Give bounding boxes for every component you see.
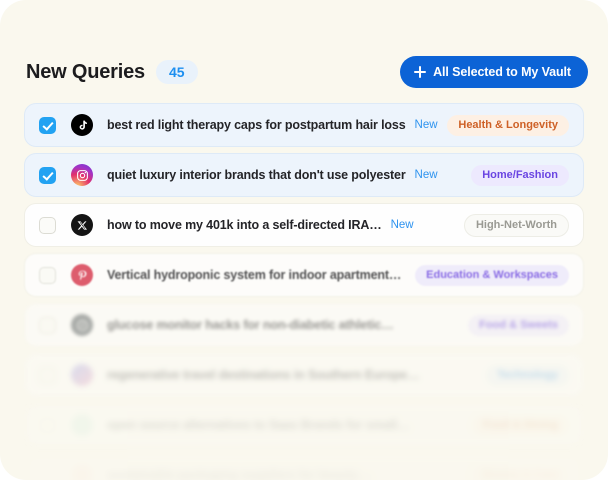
category-tag[interactable]: Home/Fashion xyxy=(471,165,569,186)
new-badge: New xyxy=(391,219,414,231)
category-tag[interactable]: High-Net-Worth xyxy=(464,214,569,237)
query-row[interactable]: sustainable packaging suppliers for beau… xyxy=(24,453,584,480)
row-checkbox[interactable] xyxy=(39,417,56,434)
query-text: regenerative travel destinations in Sout… xyxy=(107,368,419,382)
query-text: Vertical hydroponic system for indoor ap… xyxy=(107,268,401,282)
plus-icon xyxy=(414,66,426,78)
query-row[interactable]: regenerative travel destinations in Sout… xyxy=(24,353,584,397)
query-text: sustainable packaging suppliers for beau… xyxy=(107,468,370,480)
query-text: best red light therapy caps for postpart… xyxy=(107,118,406,132)
category-tag[interactable]: Food & Sweets xyxy=(468,315,569,336)
vault-button-label: All Selected to My Vault xyxy=(433,65,571,79)
mint-avatar-icon xyxy=(71,414,93,436)
compass-icon xyxy=(71,314,93,336)
query-row[interactable]: how to move my 401k into a self-directed… xyxy=(24,203,584,247)
x-twitter-icon xyxy=(71,214,93,236)
query-row[interactable]: open source alternatives to Saas Brands … xyxy=(24,403,584,447)
row-checkbox[interactable] xyxy=(39,117,56,134)
query-row[interactable]: glucose monitor hacks for non-diabetic a… xyxy=(24,303,584,347)
gradient-avatar-icon xyxy=(71,364,93,386)
category-tag[interactable]: Health & Longevity xyxy=(447,115,569,136)
query-text: quiet luxury interior brands that don't … xyxy=(107,168,406,182)
row-checkbox[interactable] xyxy=(39,167,56,184)
category-tag[interactable]: Education & Workspaces xyxy=(415,265,569,286)
query-text: how to move my 401k into a self-directed… xyxy=(107,218,382,232)
panel-header: New Queries 45 All Selected to My Vault xyxy=(26,52,588,92)
rose-avatar-icon xyxy=(71,464,93,480)
page-title: New Queries xyxy=(26,61,145,84)
row-checkbox[interactable] xyxy=(39,217,56,234)
category-tag[interactable]: Beauty & Care xyxy=(472,465,569,480)
query-row[interactable]: quiet luxury interior brands that don't … xyxy=(24,153,584,197)
query-row[interactable]: Vertical hydroponic system for indoor ap… xyxy=(24,253,584,297)
row-checkbox[interactable] xyxy=(39,367,56,384)
row-checkbox[interactable] xyxy=(39,267,56,284)
category-tag[interactable]: Food & Dining xyxy=(472,415,569,436)
query-row[interactable]: best red light therapy caps for postpart… xyxy=(24,103,584,147)
new-queries-count-badge: 45 xyxy=(156,60,198,84)
new-badge: New xyxy=(415,119,438,131)
instagram-icon xyxy=(71,164,93,186)
queries-panel: New Queries 45 All Selected to My Vault … xyxy=(0,0,608,480)
category-tag[interactable]: Technology xyxy=(486,365,569,386)
row-checkbox[interactable] xyxy=(39,317,56,334)
add-all-selected-to-vault-button[interactable]: All Selected to My Vault xyxy=(400,56,588,88)
query-text: open source alternatives to Saas Brands … xyxy=(107,418,409,432)
pinterest-icon xyxy=(71,264,93,286)
query-text: glucose monitor hacks for non-diabetic a… xyxy=(107,318,394,332)
new-badge: New xyxy=(415,169,438,181)
row-checkbox[interactable] xyxy=(39,467,56,480)
query-list: best red light therapy caps for postpart… xyxy=(24,103,584,480)
tiktok-icon xyxy=(71,114,93,136)
